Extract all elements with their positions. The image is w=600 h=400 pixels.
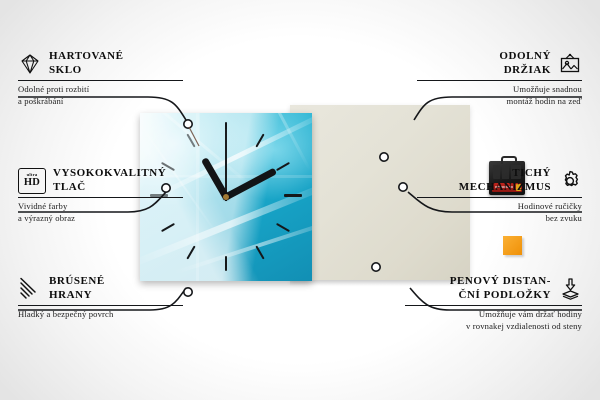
callout-subtitle: Vividné farby a výrazný obraz xyxy=(18,201,183,224)
callout-subtitle: Hladký a bezpečný povrch xyxy=(18,309,183,321)
connector-dot-3 xyxy=(184,288,192,296)
wall-mount-icon xyxy=(558,52,582,76)
callout-header: TICHÝ MECHANIZMUS xyxy=(417,167,582,194)
clock-minute-hand xyxy=(223,168,277,201)
callout-title: PENOVÝ DISTAN- ČNÍ PODLOŽKY xyxy=(450,275,551,302)
callout-header: PENOVÝ DISTAN- ČNÍ PODLOŽKY xyxy=(405,275,582,302)
callout-title: VYSOKOKVALITNÝ TLAČ xyxy=(53,167,166,194)
feature-callout-hq-print[interactable]: ultra HD VYSOKOKVALITNÝ TLAČ Vividné far… xyxy=(18,167,183,224)
callout-header: ultra HD VYSOKOKVALITNÝ TLAČ xyxy=(18,167,183,194)
callout-divider xyxy=(18,197,183,198)
callout-title: TICHÝ MECHANIZMUS xyxy=(459,167,551,194)
clock-tick-3 xyxy=(284,194,302,197)
callout-title: HARTOVANÉ SKLO xyxy=(49,50,123,77)
clock-tick-4 xyxy=(276,223,290,232)
clock-hands-hub xyxy=(223,194,229,200)
feature-callout-foam-spacers[interactable]: PENOVÝ DISTAN- ČNÍ PODLOŽKY Umožňuje vám… xyxy=(405,275,582,332)
callout-subtitle: Umožňuje vám držať hodiny v rovnakej vzd… xyxy=(405,309,582,332)
callout-header: ODOLNÝ DRŽIAK xyxy=(417,50,582,77)
gear-icon xyxy=(558,169,582,193)
callout-divider xyxy=(417,197,582,198)
callout-header: BRÚSENÉ HRANY xyxy=(18,275,183,302)
clock-tick-5 xyxy=(255,246,264,260)
polished-edges-icon xyxy=(18,277,42,301)
glass-seam-vertical xyxy=(196,113,199,281)
callout-subtitle: Umožňuje snadnou montáž hodin na zeď xyxy=(417,84,582,107)
callout-divider xyxy=(405,305,582,306)
feature-callout-tempered-glass[interactable]: HARTOVANÉ SKLO Odolné proti rozbití a po… xyxy=(18,50,183,107)
infographic-canvas: HARTOVANÉ SKLO Odolné proti rozbití a po… xyxy=(0,0,600,400)
clock-tick-8 xyxy=(161,223,175,232)
callout-header: HARTOVANÉ SKLO xyxy=(18,50,183,77)
callout-title: ODOLNÝ DRŽIAK xyxy=(499,50,551,77)
clock-tick-6 xyxy=(225,256,227,271)
foam-spacer-icon xyxy=(558,277,582,301)
callout-divider xyxy=(18,305,183,306)
diamond-icon xyxy=(18,52,42,76)
ultra-hd-icon: ultra HD xyxy=(18,168,46,194)
clock-tick-7 xyxy=(186,246,195,260)
callout-title: BRÚSENÉ HRANY xyxy=(49,275,105,302)
feature-callout-polished-edges[interactable]: BRÚSENÉ HRANY Hladký a bezpečný povrch xyxy=(18,275,183,321)
feature-callout-silent-mechanism[interactable]: TICHÝ MECHANIZMUS Hodinové ručičky bez z… xyxy=(417,167,582,224)
foam-spacer-pad xyxy=(503,236,522,255)
feature-callout-durable-mount[interactable]: ODOLNÝ DRŽIAK Umožňuje snadnou montáž ho… xyxy=(417,50,582,107)
callout-subtitle: Hodinové ručičky bez zvuku xyxy=(417,201,582,224)
callout-divider xyxy=(18,80,183,81)
callout-divider xyxy=(417,80,582,81)
clock-tick-2 xyxy=(276,162,290,171)
callout-subtitle: Odolné proti rozbití a poškrábání xyxy=(18,84,183,107)
mechanism-hanger xyxy=(501,156,517,164)
